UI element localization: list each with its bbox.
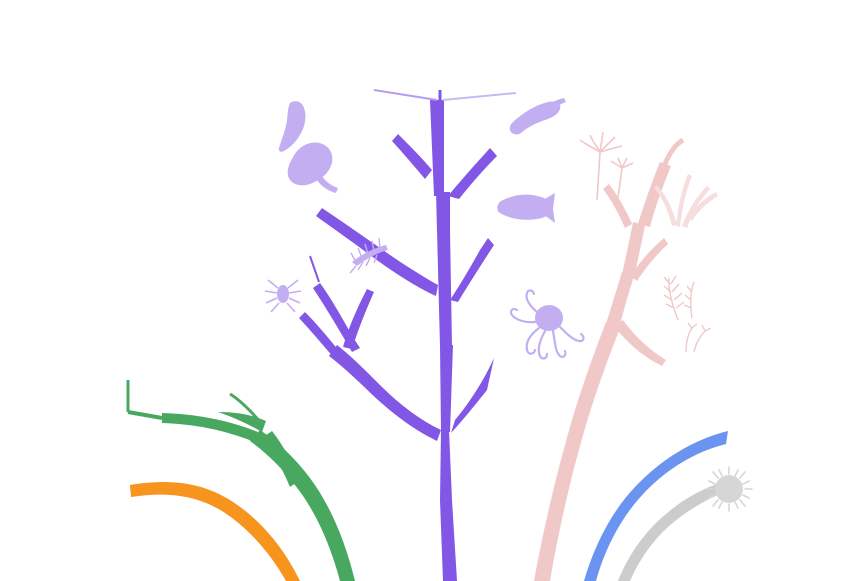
algae-upper-branch	[262, 431, 300, 487]
tracheophyta-trunk	[606, 272, 634, 328]
angiospermae-trunk	[638, 162, 671, 227]
rice-box-connector	[665, 140, 683, 164]
moss-silhouette	[686, 323, 711, 352]
arthropoda-branch	[329, 345, 441, 441]
mollusca-branch	[451, 358, 494, 433]
mammalia-trunk	[430, 100, 444, 196]
pisces-branch	[450, 238, 494, 302]
aves-branch	[392, 134, 432, 179]
octopus-silhouette	[511, 290, 584, 358]
tree-branches	[0, 0, 848, 581]
protista-trunk	[250, 430, 355, 581]
amniote-trunk	[436, 192, 450, 232]
thrips-connector	[310, 256, 319, 282]
lizard-silhouette	[510, 98, 566, 134]
reptilia-branch	[448, 148, 497, 199]
mammal-box-connector-3	[443, 93, 516, 100]
spider-silhouette	[265, 280, 301, 312]
animal-silhouettes	[265, 98, 583, 358]
tetrapod-trunk	[437, 230, 452, 347]
vertebrate-trunk	[440, 345, 453, 432]
bacteria-trunk	[130, 482, 300, 581]
fungi-branch-group	[584, 431, 728, 581]
flower-silhouette	[580, 132, 633, 205]
protozoa-box-connector	[128, 412, 162, 418]
atracheata-branch	[614, 320, 666, 366]
mammal-box-connector	[374, 90, 437, 100]
fungi-trunk	[584, 431, 728, 581]
virus-particle	[706, 467, 752, 511]
gymnospermae-branch	[603, 184, 632, 228]
fern-silhouette	[664, 276, 694, 320]
plant-silhouettes	[580, 132, 718, 352]
frog-silhouette	[288, 143, 338, 193]
bird-silhouette	[279, 101, 306, 152]
protista-branch-group	[128, 380, 355, 581]
phylogenetic-tree-figure	[0, 0, 848, 581]
fish-silhouette	[497, 193, 555, 223]
bacteria-branch-group	[130, 482, 300, 581]
animalia-trunk	[440, 430, 457, 581]
